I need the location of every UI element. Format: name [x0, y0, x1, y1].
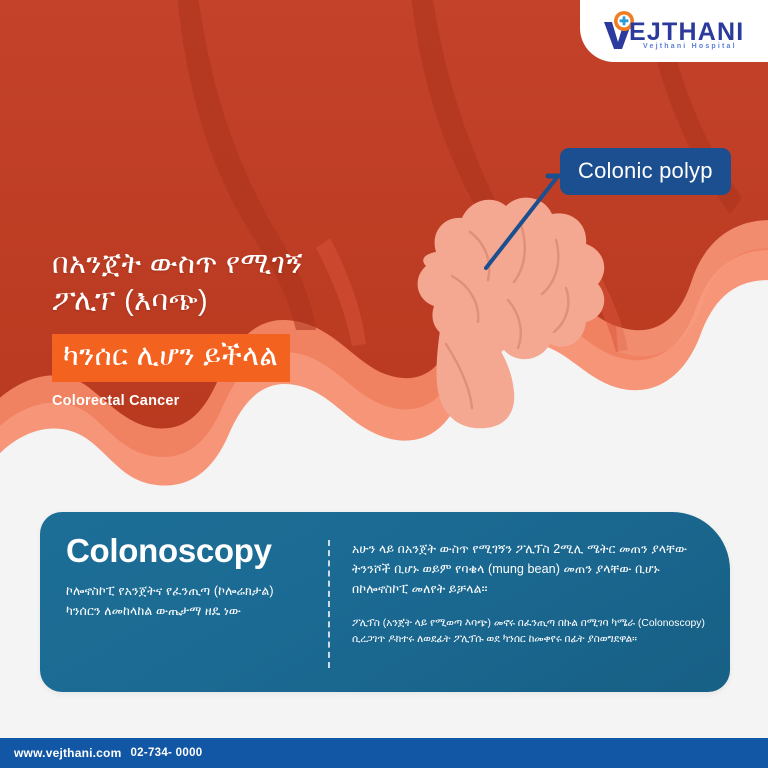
headline-block: በአንጀት ውስጥ የሚገኝ ፖሊፕ (እባጭ) ካንሰር ሊሆን ይችላል C…: [52, 246, 412, 409]
logo-inner: EJTHANI Vejthani Hospital: [599, 8, 749, 54]
footer-website[interactable]: www.vejthani.com: [14, 746, 121, 760]
vejthani-logo-banner: EJTHANI Vejthani Hospital: [580, 0, 768, 62]
logo-wordmark: EJTHANI: [629, 20, 744, 45]
footer-phone[interactable]: 02-734- 0000: [130, 747, 202, 759]
logo-mark: EJTHANI Vejthani Hospital: [599, 14, 749, 54]
colon-body: [0, 0, 768, 486]
colonic-polyp-callout: Colonic polyp: [560, 148, 731, 195]
card-paragraph-2: ፖሊፕስ (አንጀት ላይ የሚወጣ እባጭ) መኖሩ በፈንጢጣ በኩል በሚ…: [352, 616, 714, 649]
logo-tagline: Vejthani Hospital: [643, 43, 737, 50]
card-title: Colonoscopy: [66, 534, 294, 567]
headline-highlight-text: ካንሰር ሊሆን ይችላል: [63, 340, 278, 372]
card-paragraph-1: አሁን ላይ በአንጀት ውስጥ የሚገኝን ፖሊፕስ 2ሚሊ ሜትር መጠን …: [352, 540, 714, 600]
headline-highlight-bar: ካንሰር ሊሆን ይችላል: [52, 334, 290, 382]
colonoscopy-info-card: Colonoscopy ኮሎኖስኮፒ የአንጀትና የፈንጢጣ (ኮሎሬክታል)…: [40, 512, 730, 692]
headline-line-1: በአንጀት ውስጥ የሚገኝ: [52, 246, 412, 283]
card-left-column: Colonoscopy ኮሎኖስኮፒ የአንጀትና የፈንጢጣ (ኮሎሬክታል)…: [66, 534, 294, 622]
infographic-canvas: EJTHANI Vejthani Hospital Colonic polyp …: [0, 0, 768, 768]
card-left-body-text: ኮሎኖስኮፒ የአንጀትና የፈንጢጣ (ኮሎሬክታል) ካንሰርን ለመከላከ…: [66, 581, 294, 622]
polyp-head: [418, 198, 605, 360]
card-column-divider: [328, 540, 330, 668]
card-right-column: አሁን ላይ በአንጀት ውስጥ የሚገኝን ፖሊፕስ 2ሚሊ ሜትር መጠን …: [352, 540, 714, 649]
colonic-polyp: [418, 198, 605, 429]
headline-line-2: ፖሊፕ (እባጭ): [52, 283, 412, 320]
headline-subtitle: Colorectal Cancer: [52, 393, 412, 409]
footer-bar: www.vejthani.com 02-734- 0000: [0, 738, 768, 768]
